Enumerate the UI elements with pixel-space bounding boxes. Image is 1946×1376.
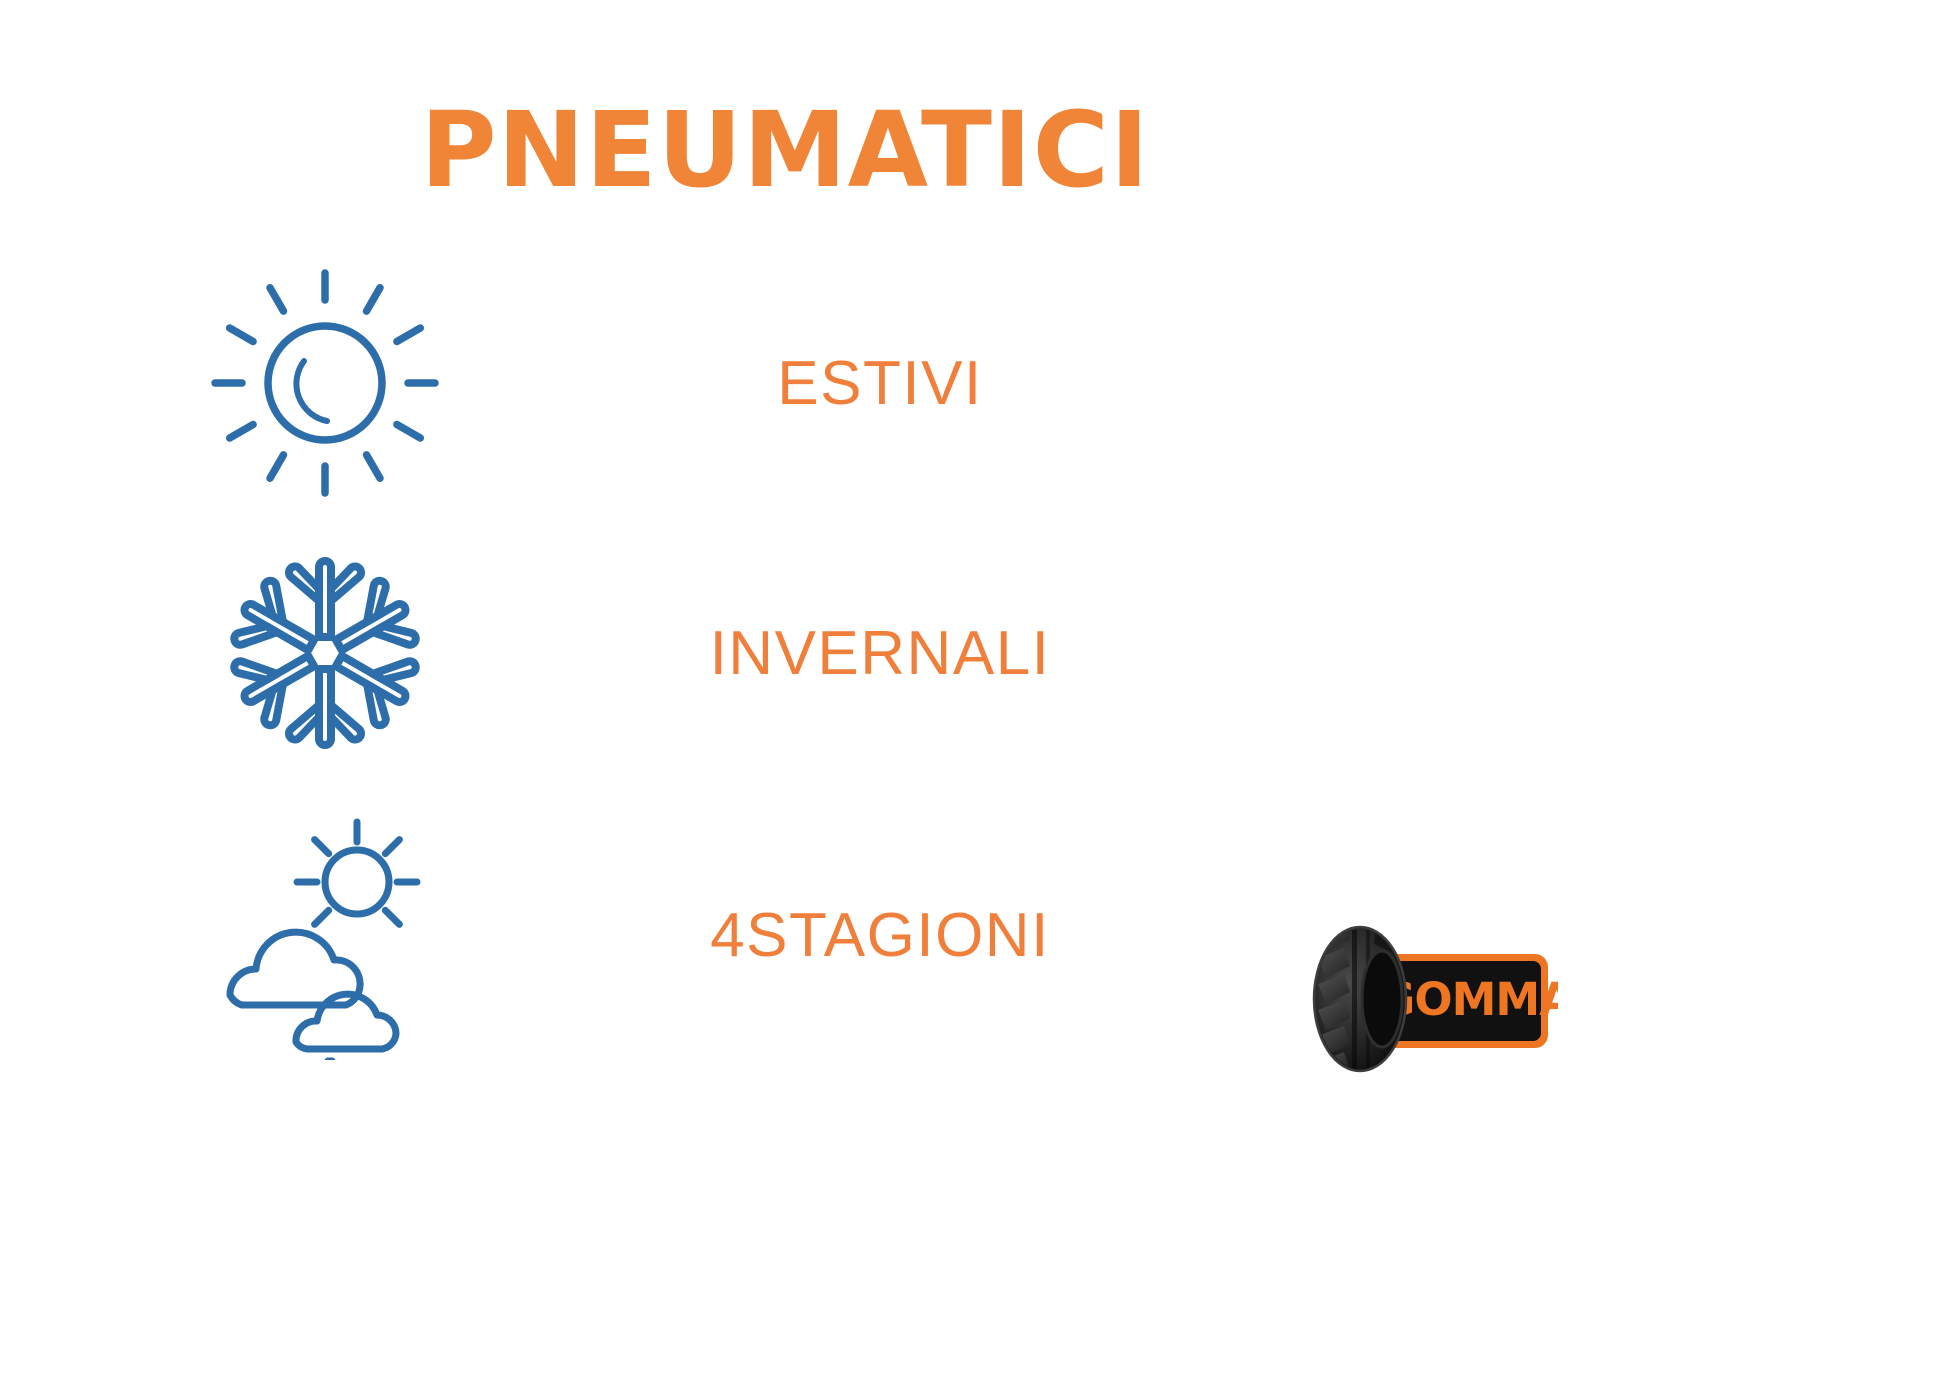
tire-type-row-invernali: INVERNALI (0, 528, 1570, 788)
sun-behind-cloud-icon (200, 810, 450, 1060)
tire-type-label-invernali: INVERNALI (470, 528, 1290, 778)
sun-icon (200, 258, 450, 508)
tire-type-label-estivi: ESTIVI (470, 258, 1290, 508)
snowflake-icon (200, 528, 450, 778)
regomma-logo[interactable]: REGOMMA (1296, 918, 1558, 1080)
page-title: PNEUMATICI (0, 96, 1570, 205)
poster-canvas: PNEUMATICI (0, 0, 1946, 1376)
tire-type-row-estivi: ESTIVI (0, 258, 1570, 518)
tire-type-label-4stagioni: 4STAGIONI (470, 810, 1290, 1060)
